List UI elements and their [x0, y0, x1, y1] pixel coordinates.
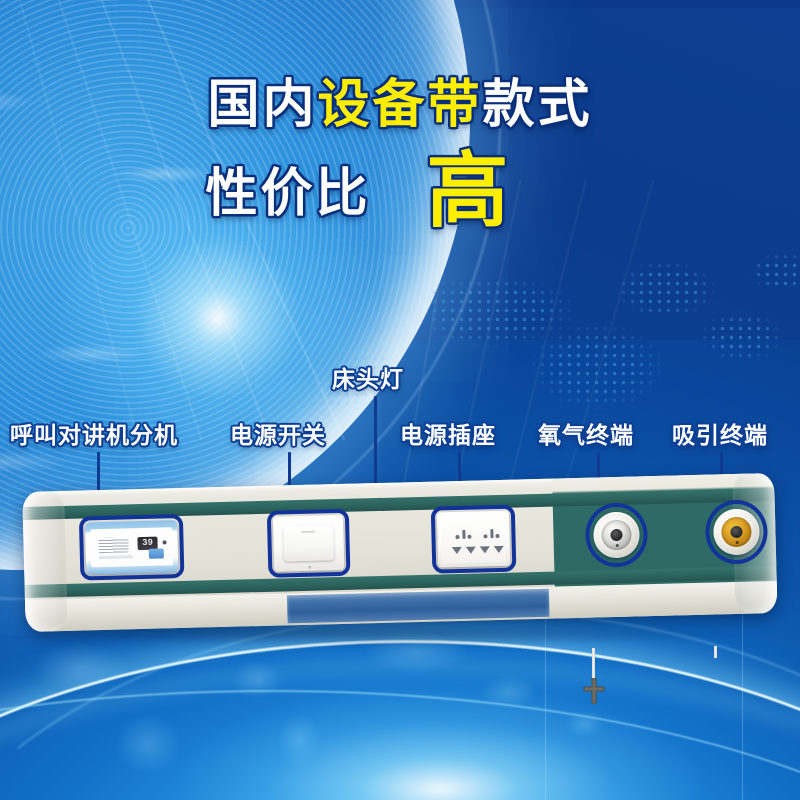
callout-bed-lamp: 床头灯 [332, 360, 404, 394]
bedhead-panel: 39 [22, 473, 777, 632]
callout-suction-terminal: 吸引终端 [672, 416, 768, 450]
headline-line-1: 国内设备带款式 [0, 78, 800, 133]
headline-text-high: 高 [427, 146, 509, 237]
bedhead-panel-photo: 39 [0, 470, 800, 670]
banner-stage: 国内设备带款式 性价比高 呼叫对讲机分机 电源开关 床头灯 电源插座 氧气终端 … [0, 0, 800, 800]
callout-intercom: 呼叫对讲机分机 [10, 416, 178, 450]
callout-power-switch: 电源开关 [230, 416, 326, 450]
callout-power-socket: 电源插座 [400, 416, 496, 450]
headline-text-value-ratio: 性价比 [205, 165, 370, 223]
headline-text-equipment-belt: 设备带 [317, 76, 482, 134]
headline-text-domestic: 国内 [207, 76, 317, 134]
callout-oxygen-terminal: 氧气终端 [538, 416, 634, 450]
headline-text-style: 款式 [483, 76, 593, 134]
highlight-box-power-switch [267, 509, 351, 578]
horizon-glow [180, 690, 700, 800]
headline-block: 国内设备带款式 性价比高 [0, 78, 800, 236]
highlight-box-intercom [79, 514, 185, 581]
headline-line-2: 性价比高 [0, 149, 800, 236]
panel-drop-shadow [30, 630, 772, 646]
cross-hook-icon [583, 678, 605, 704]
highlight-box-power-socket [431, 505, 517, 574]
halftone-dot-map-right [430, 225, 800, 440]
